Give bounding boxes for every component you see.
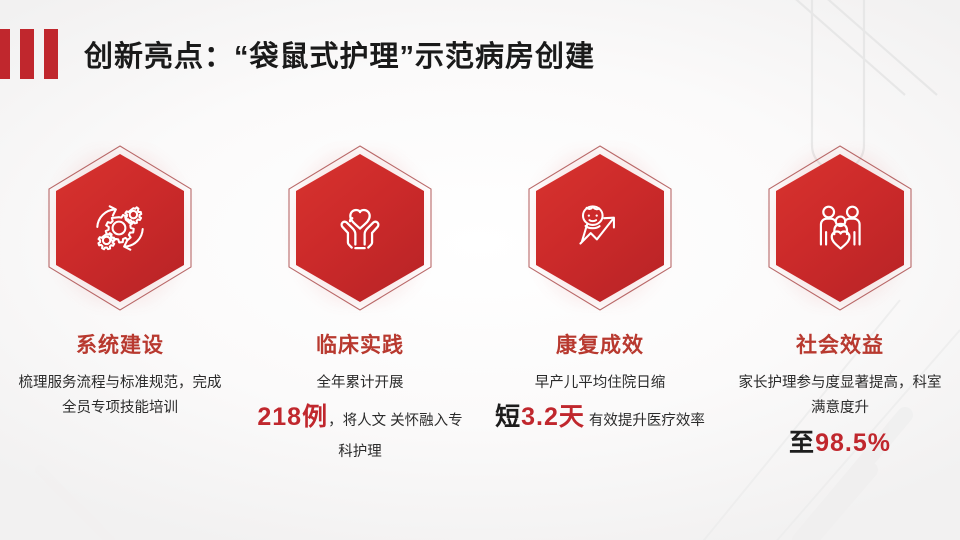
accent-bar-1 — [0, 29, 10, 79]
column-heading: 系统建设 — [76, 334, 164, 357]
feature-column-recovery: 康复成效 早产儿平均住院日缩 短3.2天 有效提升医疗效率 — [480, 140, 720, 466]
body-part: 有效提升医疗效率 — [585, 413, 705, 429]
baby-growth-arrow-icon — [567, 195, 633, 261]
body-part: ，将人文 关怀融入专科护理 — [328, 413, 463, 460]
body-part: 早产儿平均住院日缩 — [535, 375, 666, 391]
slide-header: 创新亮点：“袋鼠式护理”示范病房创建 — [0, 28, 595, 80]
gears-cycle-icon — [87, 195, 153, 261]
column-body: 早产儿平均住院日缩 短3.2天 有效提升医疗效率 — [493, 371, 707, 440]
hands-heart-icon — [327, 195, 393, 261]
accent-bars — [0, 29, 58, 79]
highlight-value: 218例 — [257, 403, 328, 431]
slide-canvas: 创新亮点：“袋鼠式护理”示范病房创建 — [0, 0, 960, 540]
hex-badge-social — [764, 140, 916, 316]
highlight-value: 3.2天 — [521, 403, 585, 431]
body-part: 家长护理参与度显著提高，科室满意度升 — [739, 375, 942, 416]
highlight-value: 98.5% — [815, 429, 891, 457]
column-heading: 临床实践 — [316, 334, 404, 357]
family-heart-icon — [807, 195, 873, 261]
column-body: 梳理服务流程与标准规范，完成全员专项技能培训 — [13, 371, 227, 422]
hex-badge-recovery — [524, 140, 676, 316]
feature-column-practice: 临床实践 全年累计开展 218例，将人文 关怀融入专科护理 — [240, 140, 480, 466]
accent-bar-3 — [44, 29, 58, 79]
body-part: 梳理服务流程与标准规范，完成全员专项技能培训 — [19, 375, 222, 416]
feature-column-social: 社会效益 家长护理参与度显著提高，科室满意度升 至98.5% — [720, 140, 960, 466]
feature-column-system: 系统建设 梳理服务流程与标准规范，完成全员专项技能培训 — [0, 140, 240, 466]
highlight-dark-value: 至 — [789, 429, 815, 457]
feature-columns: 系统建设 梳理服务流程与标准规范，完成全员专项技能培训 — [0, 140, 960, 466]
column-heading: 社会效益 — [796, 334, 884, 357]
body-part: 全年累计开展 — [317, 375, 404, 391]
column-body: 全年累计开展 218例，将人文 关怀融入专科护理 — [253, 371, 467, 466]
hex-badge-system — [44, 140, 196, 316]
column-heading: 康复成效 — [556, 334, 644, 357]
hex-badge-practice — [284, 140, 436, 316]
accent-bar-2 — [20, 29, 34, 79]
page-title: 创新亮点：“袋鼠式护理”示范病房创建 — [84, 33, 595, 75]
highlight-dark-value: 短 — [495, 403, 521, 431]
column-body: 家长护理参与度显著提高，科室满意度升 至98.5% — [733, 371, 947, 466]
